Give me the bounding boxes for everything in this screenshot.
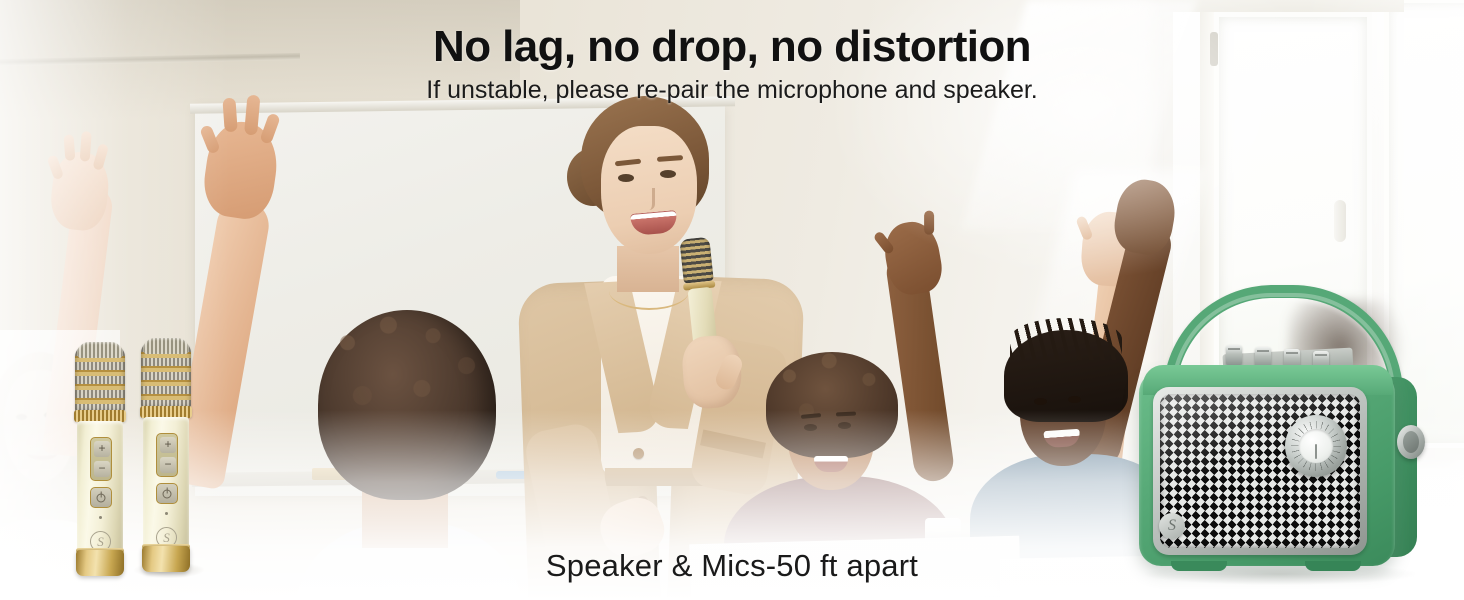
nose bbox=[645, 188, 655, 210]
brand-logo-icon bbox=[1159, 513, 1185, 539]
microphone-grille-top bbox=[143, 338, 189, 354]
hair bbox=[1004, 330, 1128, 422]
control-knob-2[interactable] bbox=[1255, 347, 1271, 367]
microphone-body: + − bbox=[77, 421, 123, 555]
microphone-grille bbox=[679, 237, 713, 284]
microphone-2: + − bbox=[140, 340, 192, 572]
dial-center bbox=[1299, 429, 1333, 463]
eye-right bbox=[660, 170, 676, 178]
volume-up-button[interactable]: + bbox=[160, 437, 176, 453]
power-button[interactable] bbox=[156, 483, 178, 504]
window-handle-icon bbox=[1334, 200, 1346, 242]
headline: No lag, no drop, no distortion bbox=[0, 22, 1464, 72]
subheadline: If unstable, please re-pair the micropho… bbox=[0, 76, 1464, 105]
volume-down-button[interactable]: − bbox=[160, 457, 176, 473]
control-knob-1[interactable] bbox=[1226, 345, 1242, 365]
volume-button-panel[interactable]: + − bbox=[156, 433, 178, 477]
product-banner: + − + − bbox=[0, 0, 1464, 600]
eye-left bbox=[804, 424, 817, 431]
eye-left bbox=[1034, 398, 1047, 405]
necklace bbox=[609, 272, 689, 310]
eye-right bbox=[1068, 396, 1081, 403]
power-button[interactable] bbox=[90, 487, 112, 508]
dial-needle-icon bbox=[1315, 444, 1317, 459]
eye-left bbox=[16, 414, 27, 420]
caption: Speaker & Mics-50 ft apart bbox=[0, 548, 1464, 584]
eye-right bbox=[838, 422, 851, 429]
microphone-body: + − bbox=[143, 417, 189, 551]
volume-down-button[interactable]: − bbox=[94, 461, 110, 477]
side-control-knob[interactable] bbox=[1397, 425, 1425, 459]
power-icon bbox=[97, 493, 106, 502]
jacket-button bbox=[633, 448, 644, 459]
eye-left bbox=[618, 174, 634, 182]
tuning-dial[interactable] bbox=[1285, 415, 1347, 477]
power-icon bbox=[163, 489, 172, 498]
grille-frame bbox=[1153, 387, 1367, 555]
hair bbox=[318, 310, 496, 500]
led-indicator bbox=[99, 516, 102, 519]
led-indicator bbox=[165, 512, 168, 515]
volume-button-panel[interactable]: + − bbox=[90, 437, 112, 481]
volume-up-button[interactable]: + bbox=[94, 441, 110, 457]
microphones-product: + − + − bbox=[70, 340, 200, 575]
microphone-grille-top bbox=[77, 342, 123, 358]
speaker-product bbox=[1125, 285, 1445, 575]
finger bbox=[924, 211, 934, 235]
microphone-1: + − bbox=[74, 344, 126, 576]
hair bbox=[766, 352, 898, 458]
